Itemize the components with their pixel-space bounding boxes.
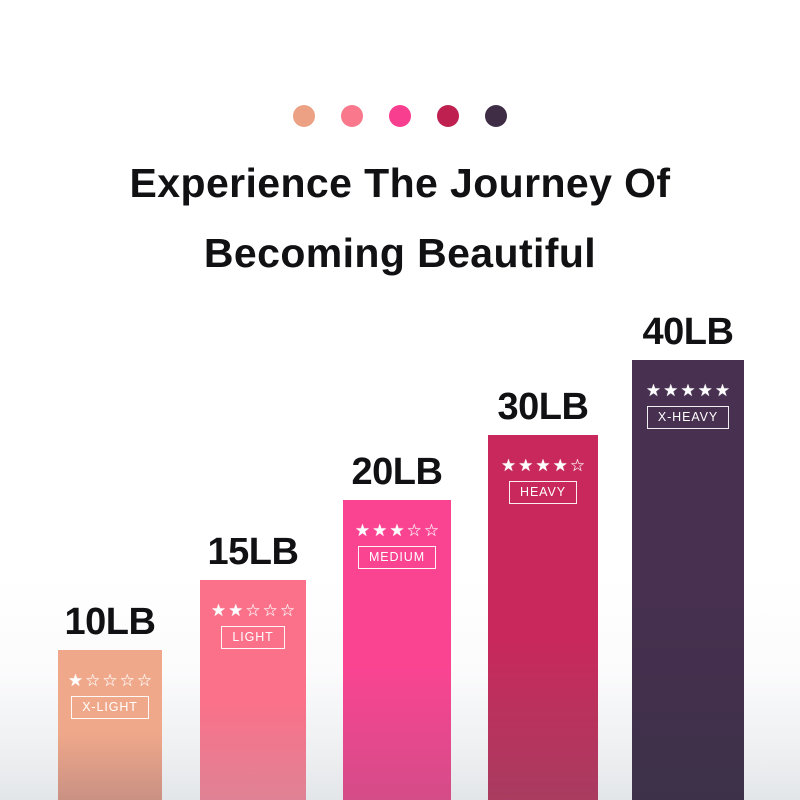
bar-group-x-light[interactable]: 10LB★☆☆☆☆X-LIGHT	[58, 598, 162, 800]
star-filled-icon: ★	[211, 602, 226, 619]
bar-badge: ★★☆☆☆LIGHT	[200, 602, 306, 649]
page-title: Experience The Journey Of Becoming Beaut…	[0, 148, 800, 288]
star-filled-icon: ★	[553, 457, 568, 474]
star-filled-icon: ★	[355, 522, 370, 539]
bar-group-heavy[interactable]: 30LB★★★★☆HEAVY	[488, 383, 598, 800]
dot-medium	[389, 105, 411, 127]
dot-x-heavy	[485, 105, 507, 127]
bar-weight-label: 40LB	[632, 310, 744, 354]
bar-body[interactable]: ★★★☆☆MEDIUM	[343, 500, 451, 800]
bar-group-x-heavy[interactable]: 40LB★★★★★X-HEAVY	[632, 308, 744, 800]
bar-badge: ★★★☆☆MEDIUM	[343, 522, 451, 569]
headline-line-2: Becoming Beautiful	[0, 218, 800, 288]
bar-weight-label: 30LB	[488, 385, 598, 429]
bar-weight-label: 10LB	[58, 600, 162, 644]
star-rating: ★★★★★	[646, 382, 730, 399]
bar-body[interactable]: ★☆☆☆☆X-LIGHT	[58, 650, 162, 800]
star-empty-icon: ☆	[245, 602, 260, 619]
dot-light	[341, 105, 363, 127]
level-label: X-LIGHT	[71, 696, 149, 719]
level-label: HEAVY	[509, 481, 577, 504]
bar-body[interactable]: ★★☆☆☆LIGHT	[200, 580, 306, 800]
star-filled-icon: ★	[389, 522, 404, 539]
star-empty-icon: ☆	[120, 672, 135, 689]
star-rating: ★★★☆☆	[355, 522, 439, 539]
star-filled-icon: ★	[228, 602, 243, 619]
star-empty-icon: ☆	[280, 602, 295, 619]
star-empty-icon: ☆	[570, 457, 585, 474]
bar-badge: ★☆☆☆☆X-LIGHT	[58, 672, 162, 719]
star-rating: ★★☆☆☆	[211, 602, 295, 619]
star-empty-icon: ☆	[85, 672, 100, 689]
resistance-bar-chart: 10LB★☆☆☆☆X-LIGHT15LB★★☆☆☆LIGHT20LB★★★☆☆M…	[0, 280, 800, 800]
bar-weight-label: 20LB	[343, 450, 451, 494]
bar-badge: ★★★★★X-HEAVY	[632, 382, 744, 429]
star-empty-icon: ☆	[263, 602, 278, 619]
bar-weight-label: 15LB	[200, 530, 306, 574]
star-filled-icon: ★	[680, 382, 695, 399]
star-empty-icon: ☆	[137, 672, 152, 689]
bar-group-light[interactable]: 15LB★★☆☆☆LIGHT	[200, 528, 306, 800]
star-filled-icon: ★	[715, 382, 730, 399]
star-rating: ★★★★☆	[501, 457, 585, 474]
star-filled-icon: ★	[646, 382, 661, 399]
bar-body[interactable]: ★★★★★X-HEAVY	[632, 360, 744, 800]
star-filled-icon: ★	[501, 457, 516, 474]
level-label: X-HEAVY	[647, 406, 729, 429]
star-filled-icon: ★	[535, 457, 550, 474]
level-label: MEDIUM	[358, 546, 436, 569]
star-filled-icon: ★	[68, 672, 83, 689]
star-empty-icon: ☆	[102, 672, 117, 689]
star-filled-icon: ★	[372, 522, 387, 539]
star-filled-icon: ★	[663, 382, 678, 399]
poster-canvas: Experience The Journey Of Becoming Beaut…	[0, 0, 800, 800]
bar-group-medium[interactable]: 20LB★★★☆☆MEDIUM	[343, 448, 451, 800]
dot-heavy	[437, 105, 459, 127]
level-label: LIGHT	[221, 626, 284, 649]
color-swatch-row	[0, 105, 800, 127]
star-empty-icon: ☆	[424, 522, 439, 539]
headline-line-1: Experience The Journey Of	[0, 148, 800, 218]
star-filled-icon: ★	[518, 457, 533, 474]
bar-body[interactable]: ★★★★☆HEAVY	[488, 435, 598, 800]
star-empty-icon: ☆	[407, 522, 422, 539]
bar-badge: ★★★★☆HEAVY	[488, 457, 598, 504]
star-filled-icon: ★	[698, 382, 713, 399]
dot-x-light	[293, 105, 315, 127]
star-rating: ★☆☆☆☆	[68, 672, 152, 689]
